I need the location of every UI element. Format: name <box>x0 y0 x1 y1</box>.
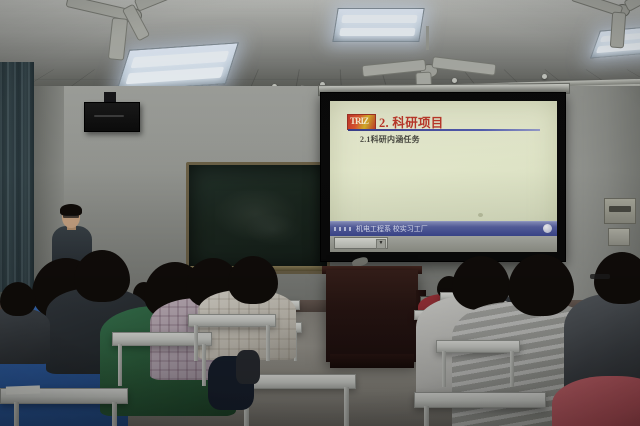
slide-footer-bar: 机电工程系 校实习工厂 <box>330 221 557 236</box>
desk-leg <box>118 344 122 386</box>
glasses-icon <box>590 274 610 279</box>
wall-speaker-icon <box>84 102 140 132</box>
slide-footer-text: 机电工程系 校实习工厂 <box>356 224 428 234</box>
footer-tray-icon <box>543 224 552 233</box>
chevron-down-icon[interactable]: ▼ <box>376 239 386 249</box>
projection-screen: TRIZ 2. 科研项目 2.1科研内涵任务 机电工程系 校实习工厂 ▼ <box>320 92 566 262</box>
classroom-scene: TRIZ 2. 科研项目 2.1科研内涵任务 机电工程系 校实习工厂 ▼ <box>0 0 640 426</box>
student-desk <box>188 314 276 327</box>
ceiling-sensor-icon <box>542 74 547 79</box>
ceiling-sensor-icon <box>452 78 457 83</box>
lectern <box>326 270 418 362</box>
footer-bullet-dots-icon <box>334 227 352 231</box>
projected-slide: TRIZ 2. 科研项目 2.1科研内涵任务 机电工程系 校实习工厂 ▼ <box>330 101 557 252</box>
wall-control-panel[interactable] <box>604 198 636 224</box>
desk-leg <box>510 351 514 387</box>
student-desk <box>436 340 520 353</box>
triz-logo-text: TRIZ <box>350 116 368 126</box>
desk-leg <box>424 406 429 426</box>
screen-blemish <box>478 213 483 217</box>
ceiling-fan-right-icon <box>575 0 640 42</box>
desk-leg <box>344 387 349 426</box>
slide-bottom-strip: ▼ <box>330 236 557 252</box>
desk-leg <box>442 351 446 387</box>
student-desk <box>414 392 546 408</box>
desk-leg <box>202 344 206 386</box>
slide-combo-box[interactable]: ▼ <box>334 237 388 249</box>
desk-leg <box>266 325 270 361</box>
podium-base <box>330 354 414 368</box>
wall-socket-icon[interactable] <box>608 228 630 246</box>
window-curtain <box>0 62 34 292</box>
ceiling-fan-left-icon <box>58 0 218 56</box>
presenter-glasses-icon <box>63 215 79 218</box>
desk-leg <box>14 402 19 426</box>
desk-leg <box>194 325 198 361</box>
slide-title-rule <box>348 129 540 131</box>
desk-leg <box>112 402 117 426</box>
ceiling-light-mid-icon <box>332 8 424 42</box>
paper-sheet <box>6 385 40 394</box>
backpack <box>236 350 260 384</box>
slide-subtitle: 2.1科研内涵任务 <box>360 134 420 145</box>
triz-logo-icon: TRIZ <box>347 114 376 130</box>
